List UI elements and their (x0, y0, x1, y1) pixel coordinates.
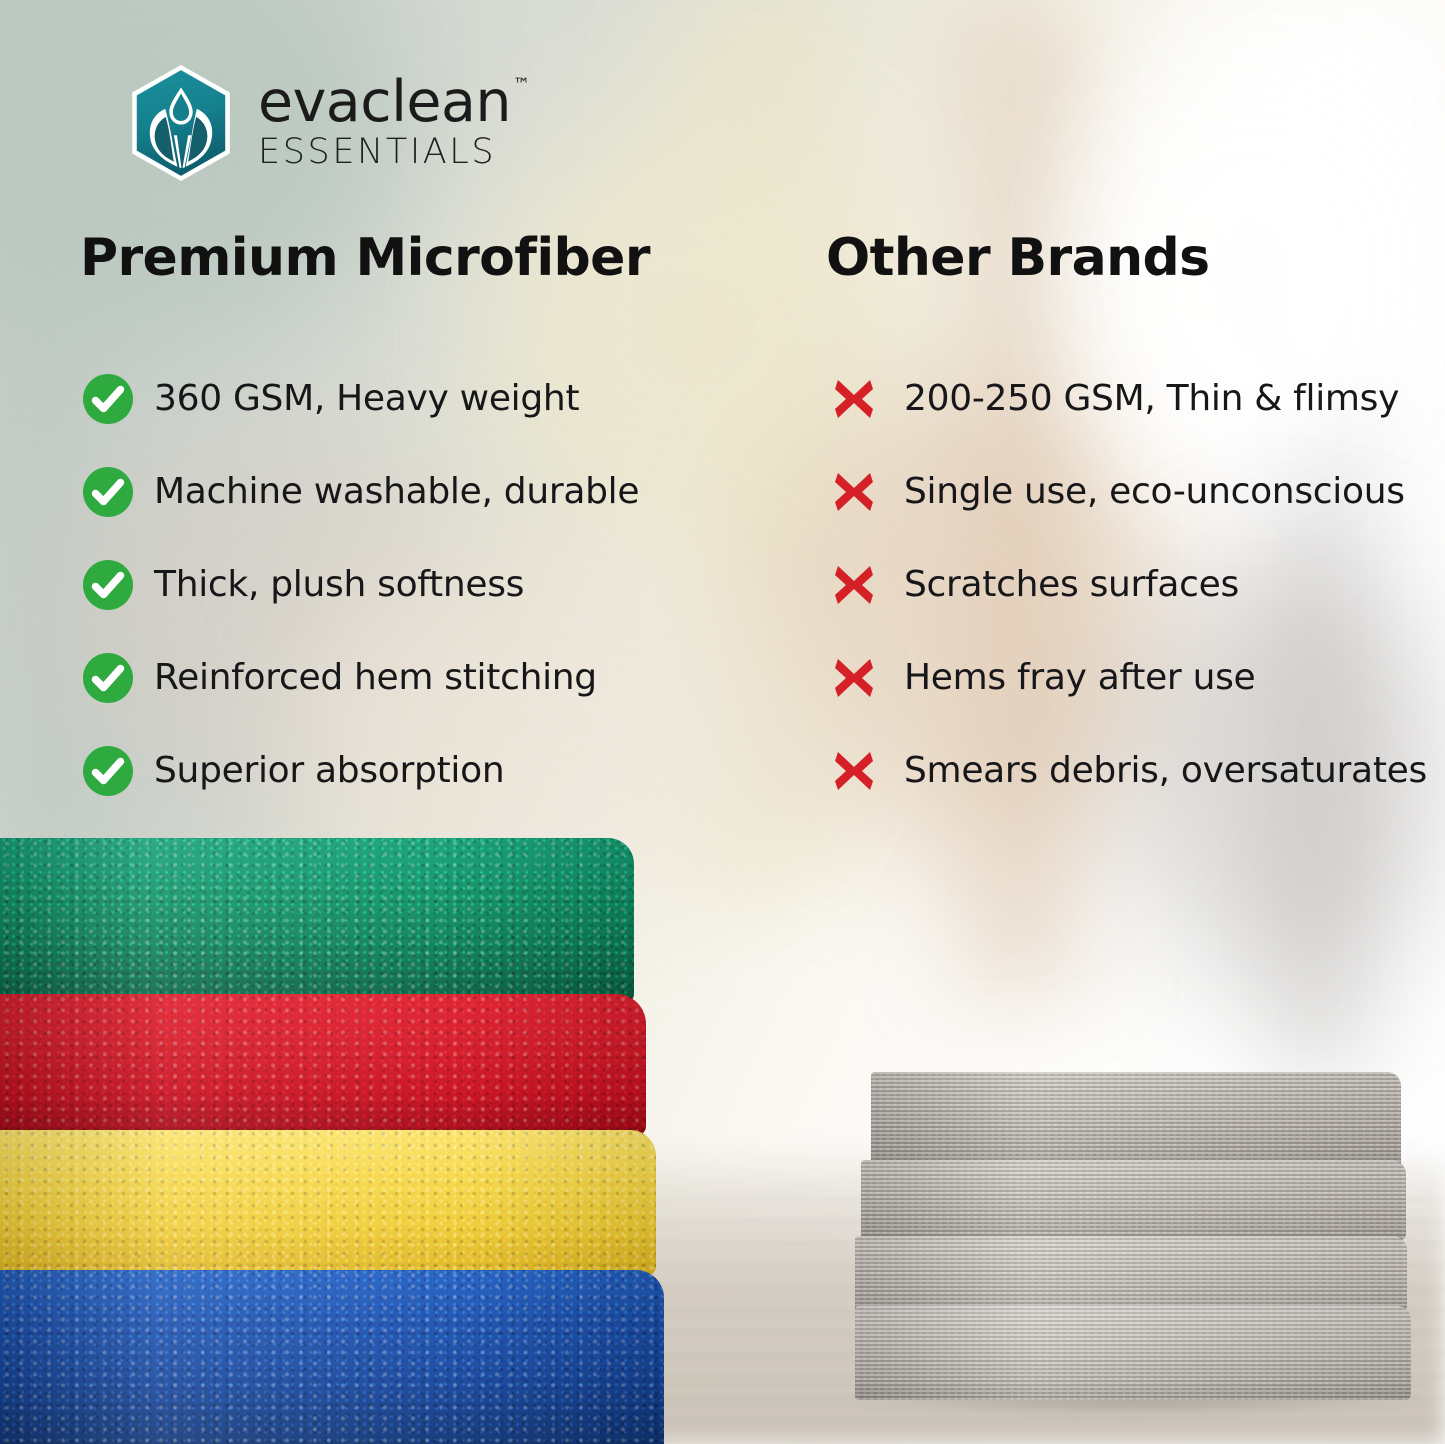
list-item-label: 200-250 GSM, Thin & flimsy (904, 378, 1399, 419)
list-item: Thick, plush softness (80, 538, 780, 631)
other-brands-feature-list: 200-250 GSM, Thin & flimsy Single use, e… (826, 352, 1426, 817)
towel-shading (855, 1236, 1407, 1312)
towel-gray-3 (855, 1236, 1407, 1312)
gray-thin-towel-stack (855, 1072, 1415, 1402)
cross-x-icon (826, 650, 882, 706)
towel-blue (0, 1270, 664, 1444)
list-item-label: Hems fray after use (904, 657, 1255, 698)
colored-microfiber-towel-stack (0, 838, 684, 1444)
hexagon-leaf-droplet-icon (120, 62, 242, 184)
logo-wordmark: evaclean™ (258, 75, 511, 131)
towel-shading (0, 994, 646, 1136)
towel-gray-1 (871, 1072, 1401, 1168)
product-comparison-infographic: evaclean™ ESSENTIALS Premium Microfiber … (0, 0, 1445, 1444)
towel-shading (861, 1160, 1406, 1240)
logo-wordmark-text: evaclean (258, 69, 511, 135)
premium-feature-list: 360 GSM, Heavy weight Machine washable, … (80, 352, 780, 817)
list-item-label: 360 GSM, Heavy weight (154, 378, 579, 419)
check-circle-icon (80, 557, 136, 613)
check-circle-icon (80, 464, 136, 520)
list-item-label: Machine washable, durable (154, 471, 639, 512)
towel-yellow (0, 1130, 656, 1276)
cross-x-icon (826, 743, 882, 799)
list-item: 200-250 GSM, Thin & flimsy (826, 352, 1426, 445)
list-item: Scratches surfaces (826, 538, 1426, 631)
check-circle-icon (80, 371, 136, 427)
list-item-label: Reinforced hem stitching (154, 657, 597, 698)
list-item: 360 GSM, Heavy weight (80, 352, 780, 445)
other-brands-column: Other Brands 200-250 GSM, Thin & flimsy … (826, 228, 1426, 817)
towel-green (0, 838, 634, 1004)
check-circle-icon (80, 743, 136, 799)
logo-tagline: ESSENTIALS (258, 131, 511, 175)
cross-x-icon (826, 557, 882, 613)
other-brands-column-title: Other Brands (826, 228, 1426, 288)
premium-column-title: Premium Microfiber (80, 228, 780, 288)
list-item: Hems fray after use (826, 631, 1426, 724)
cross-x-icon (826, 464, 882, 520)
list-item: Superior absorption (80, 724, 780, 817)
brand-logo: evaclean™ ESSENTIALS (120, 62, 511, 184)
list-item-label: Single use, eco-unconscious (904, 471, 1405, 512)
cross-x-icon (826, 371, 882, 427)
towel-gray-4 (855, 1306, 1411, 1400)
premium-column: Premium Microfiber 360 GSM, Heavy weight… (80, 228, 780, 817)
list-item: Single use, eco-unconscious (826, 445, 1426, 538)
list-item: Machine washable, durable (80, 445, 780, 538)
list-item: Reinforced hem stitching (80, 631, 780, 724)
list-item-label: Superior absorption (154, 750, 504, 791)
list-item-label: Smears debris, oversaturates (904, 750, 1427, 791)
towel-shading (0, 1130, 656, 1276)
towel-gray-2 (861, 1160, 1406, 1240)
towel-red (0, 994, 646, 1136)
towel-shading (0, 838, 634, 1004)
check-circle-icon (80, 650, 136, 706)
list-item: Smears debris, oversaturates (826, 724, 1426, 817)
towel-shading (871, 1072, 1401, 1168)
trademark-symbol: ™ (513, 77, 530, 94)
list-item-label: Thick, plush softness (154, 564, 524, 605)
towel-shading (0, 1270, 664, 1444)
list-item-label: Scratches surfaces (904, 564, 1239, 605)
towel-shading (855, 1306, 1411, 1400)
